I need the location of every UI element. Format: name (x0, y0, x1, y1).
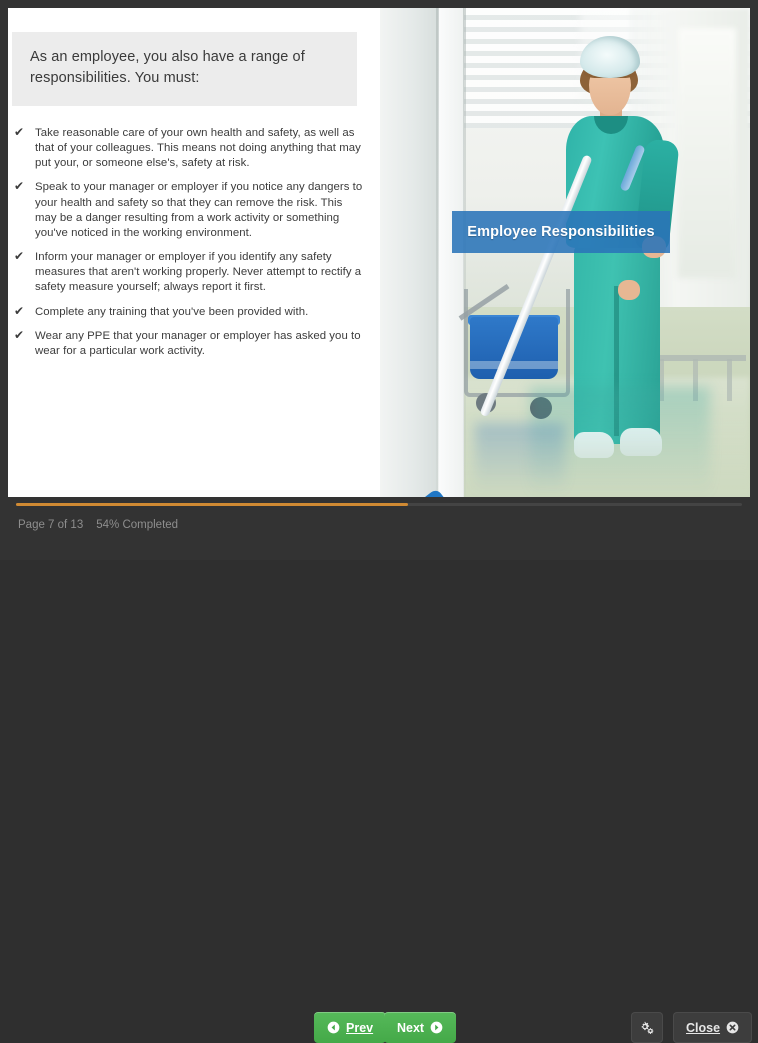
responsibilities-list: ✔ Take reasonable care of your own healt… (12, 126, 364, 368)
check-icon: ✔ (14, 328, 24, 344)
next-button[interactable]: Next (384, 1012, 456, 1043)
check-icon: ✔ (14, 179, 24, 195)
list-item: ✔ Wear any PPE that your manager or empl… (12, 329, 364, 359)
arrow-left-circle-icon (327, 1021, 340, 1034)
list-item: ✔ Complete any training that you've been… (12, 305, 364, 320)
list-item-text: Take reasonable care of your own health … (35, 127, 361, 169)
page-status: Page 7 of 13 (18, 519, 83, 531)
prev-button-label: Prev (346, 1021, 373, 1035)
check-icon: ✔ (14, 304, 24, 320)
progress-bar-fill (16, 503, 408, 506)
arrow-right-circle-icon (430, 1021, 443, 1034)
progress-bar[interactable] (16, 503, 742, 506)
settings-button[interactable] (631, 1012, 663, 1043)
next-button-label: Next (397, 1021, 424, 1035)
check-icon: ✔ (14, 249, 24, 265)
slide-image-column: Employee Responsibilities (380, 8, 750, 497)
slide-text-column: As an employee, you also have a range of… (8, 8, 380, 497)
completion-status: 54% Completed (96, 519, 178, 531)
check-icon: ✔ (14, 125, 24, 141)
status-area: Page 7 of 13 54% Completed (18, 519, 178, 531)
list-item: ✔ Speak to your manager or employer if y… (12, 180, 364, 241)
list-item-text: Wear any PPE that your manager or employ… (35, 330, 361, 357)
close-circle-icon (726, 1021, 739, 1034)
slide-heading: As an employee, you also have a range of… (30, 47, 339, 89)
slide-heading-box: As an employee, you also have a range of… (12, 32, 357, 106)
list-item-text: Inform your manager or employer if you i… (35, 251, 361, 293)
image-caption-bar: Employee Responsibilities (452, 211, 670, 253)
close-button-label: Close (686, 1021, 720, 1035)
list-item: ✔ Take reasonable care of your own healt… (12, 126, 364, 171)
image-caption-text: Employee Responsibilities (467, 224, 654, 240)
list-item-text: Complete any training that you've been p… (35, 306, 308, 318)
player-footer: Page 7 of 13 54% Completed Prev Next (0, 497, 758, 560)
course-player: As an employee, you also have a range of… (0, 0, 758, 560)
list-item: ✔ Inform your manager or employer if you… (12, 250, 364, 295)
cogs-icon (639, 1021, 655, 1035)
prev-button[interactable]: Prev (314, 1012, 386, 1043)
close-button[interactable]: Close (673, 1012, 752, 1043)
list-item-text: Speak to your manager or employer if you… (35, 181, 362, 238)
slide-stage: As an employee, you also have a range of… (8, 8, 750, 497)
slide-photo: Employee Responsibilities (380, 8, 750, 497)
